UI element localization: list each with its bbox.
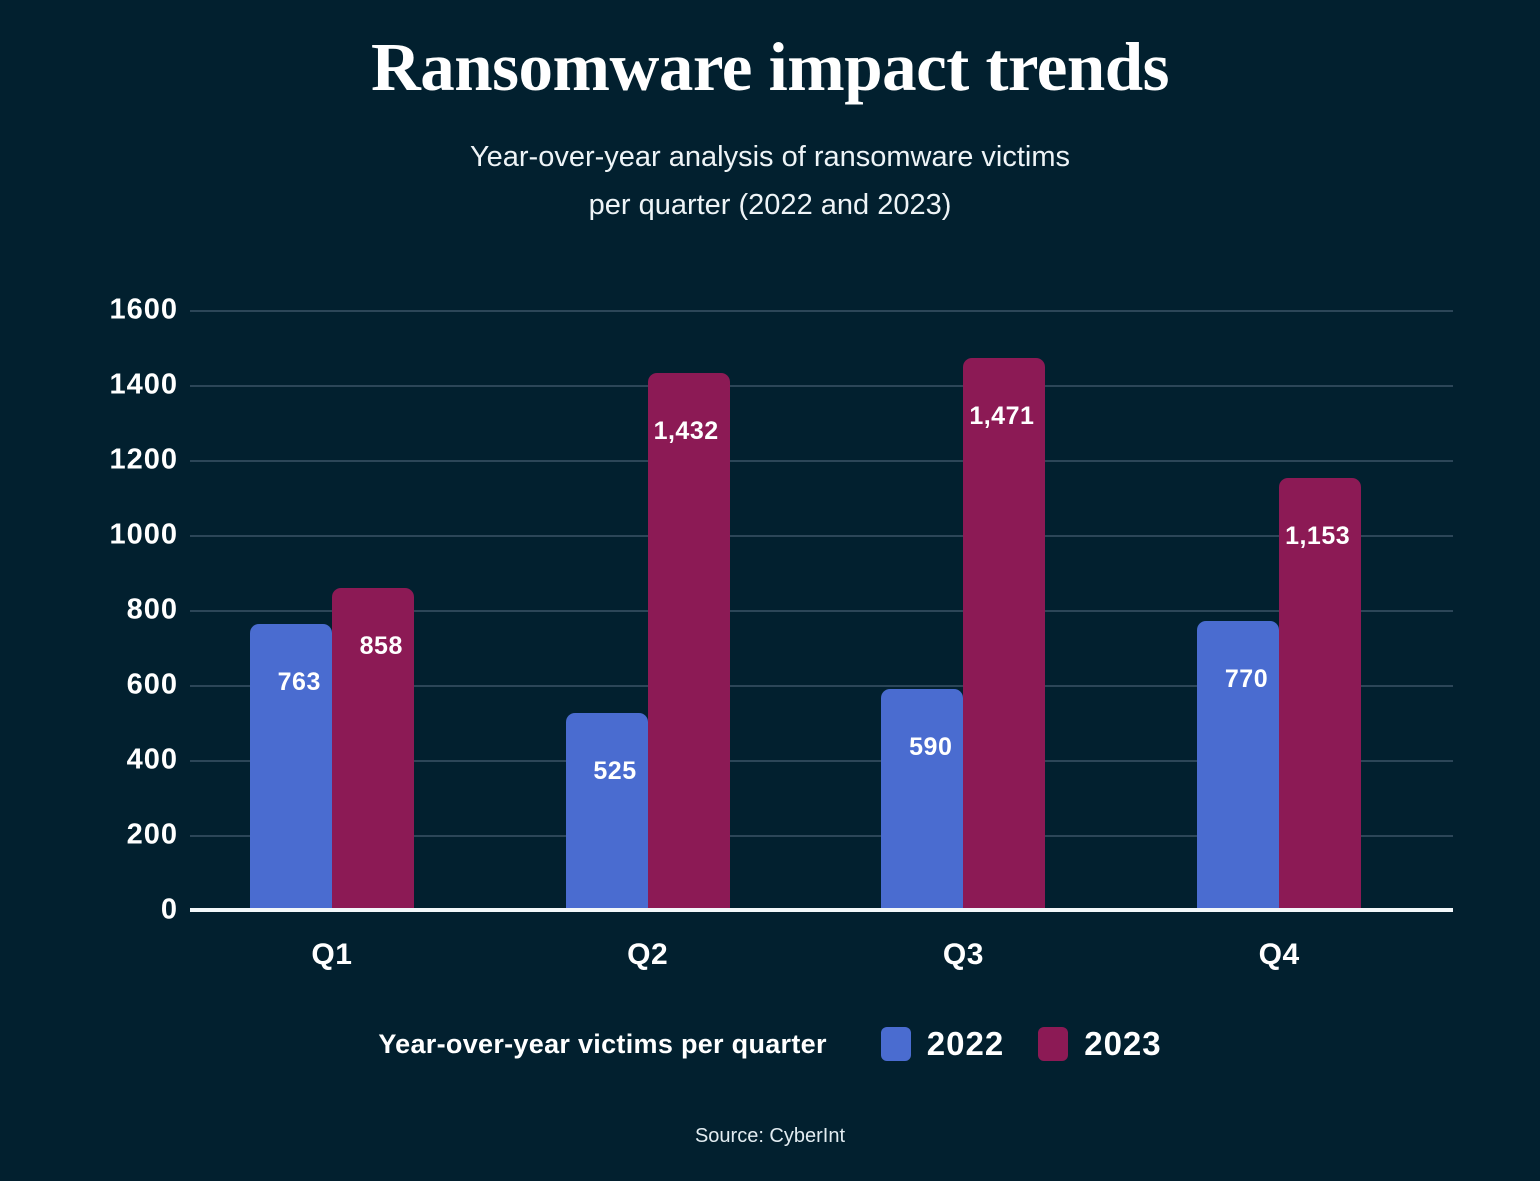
bar-q1-2022[interactable]: 763 [250, 624, 332, 910]
y-axis-tick-label: 1200 [109, 444, 178, 477]
bar-group-q3: 5901,471 [881, 310, 1045, 910]
y-axis-tick-label: 1000 [109, 519, 178, 552]
bar-value-label: 525 [593, 757, 636, 786]
y-axis-tick-label: 400 [127, 744, 178, 777]
page-title: Ransomware impact trends [0, 28, 1540, 107]
legend-swatch-icon [1038, 1027, 1068, 1061]
y-axis-tick-label: 800 [127, 594, 178, 627]
bar-value-label: 763 [278, 668, 321, 697]
y-axis-tick-label: 0 [161, 894, 178, 927]
bar-q1-2023[interactable]: 858 [332, 588, 414, 910]
bar-q2-2022[interactable]: 525 [566, 713, 648, 910]
x-axis-baseline [190, 908, 1453, 912]
chart-subtitle: Year-over-year analysis of ransomware vi… [0, 133, 1540, 229]
x-axis-tick-label-q4: Q4 [1259, 938, 1300, 972]
bar-value-label: 770 [1225, 665, 1268, 694]
chart-subtitle-line-1: Year-over-year analysis of ransomware vi… [0, 133, 1540, 181]
y-axis-tick-label: 1400 [109, 369, 178, 402]
bar-q4-2023[interactable]: 1,153 [1279, 478, 1361, 910]
bar-value-label: 1,153 [1285, 522, 1350, 551]
legend-swatch-icon [881, 1027, 911, 1061]
legend-item-2022[interactable]: 2022 [881, 1025, 1004, 1063]
bar-q3-2022[interactable]: 590 [881, 689, 963, 910]
chart-legend: Year-over-year victims per quarter 20222… [0, 1025, 1540, 1063]
bar-group-q4: 7701,153 [1197, 310, 1361, 910]
bar-q3-2023[interactable]: 1,471 [963, 358, 1045, 910]
chart-subtitle-line-2: per quarter (2022 and 2023) [0, 181, 1540, 229]
bar-group-q2: 5251,432 [566, 310, 730, 910]
source-note: Source: CyberInt [0, 1125, 1540, 1148]
x-axis-tick-label-q3: Q3 [943, 938, 984, 972]
legend-title: Year-over-year victims per quarter [378, 1029, 826, 1060]
bar-value-label: 1,432 [654, 417, 719, 446]
y-axis-tick-label: 600 [127, 669, 178, 702]
y-axis-tick-label: 200 [127, 819, 178, 852]
legend-label: 2022 [927, 1025, 1004, 1063]
plot-area: 7638585251,4325901,4717701,153 [190, 310, 1453, 910]
bar-q4-2022[interactable]: 770 [1197, 621, 1279, 910]
bar-value-label: 858 [360, 632, 403, 661]
legend-item-2023[interactable]: 2023 [1038, 1025, 1161, 1063]
bar-group-q1: 763858 [250, 310, 414, 910]
legend-label: 2023 [1084, 1025, 1161, 1063]
x-axis-tick-label-q1: Q1 [311, 938, 352, 972]
bar-value-label: 1,471 [969, 402, 1034, 431]
y-axis-tick-label: 1600 [109, 294, 178, 327]
x-axis-tick-label-q2: Q2 [627, 938, 668, 972]
bar-value-label: 590 [909, 733, 952, 762]
bar-q2-2023[interactable]: 1,432 [648, 373, 730, 910]
